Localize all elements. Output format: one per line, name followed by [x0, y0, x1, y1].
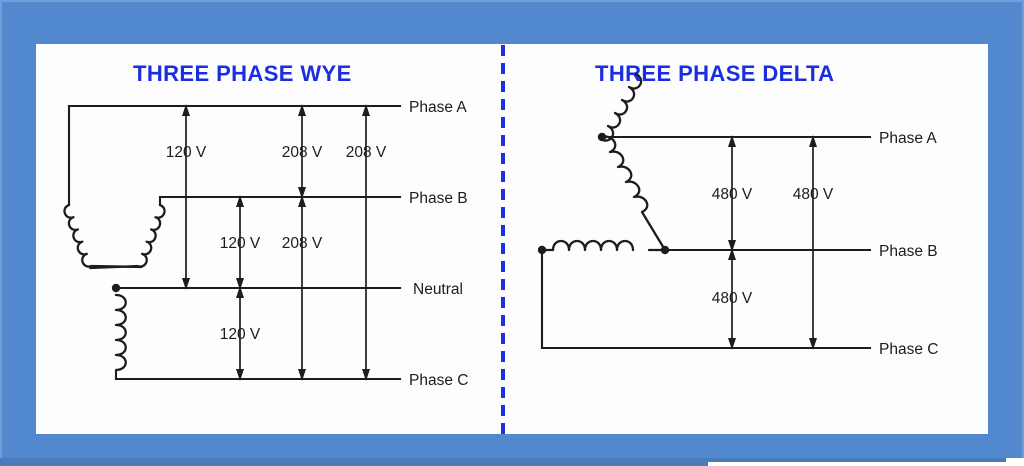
delta-vertex-a — [598, 133, 606, 141]
delta-vertex-c — [538, 246, 546, 254]
delta-label-480v-a-b: 480 V — [712, 186, 753, 203]
delta-coil-ca — [601, 74, 641, 141]
delta-conductor-label-phase-b: Phase B — [879, 243, 938, 260]
delta-conductor-label-phase-a: Phase A — [879, 130, 937, 147]
delta-dim-a-c — [809, 135, 817, 350]
delta-label-480v-a-c: 480 V — [793, 186, 834, 203]
delta-coil-ab — [602, 137, 665, 250]
delta-coil-bc — [553, 241, 633, 250]
delta-schematic: 480 V 480 V 480 V Phase A Phase B Phase … — [0, 0, 1024, 466]
delta-vertex-b — [661, 246, 669, 254]
delta-conductor-label-phase-c: Phase C — [879, 341, 938, 358]
delta-label-480v-b-c: 480 V — [712, 290, 753, 307]
diagram-screenshot: THREE PHASE WYE THREE PHASE DELTA 120 V — [0, 0, 1024, 466]
